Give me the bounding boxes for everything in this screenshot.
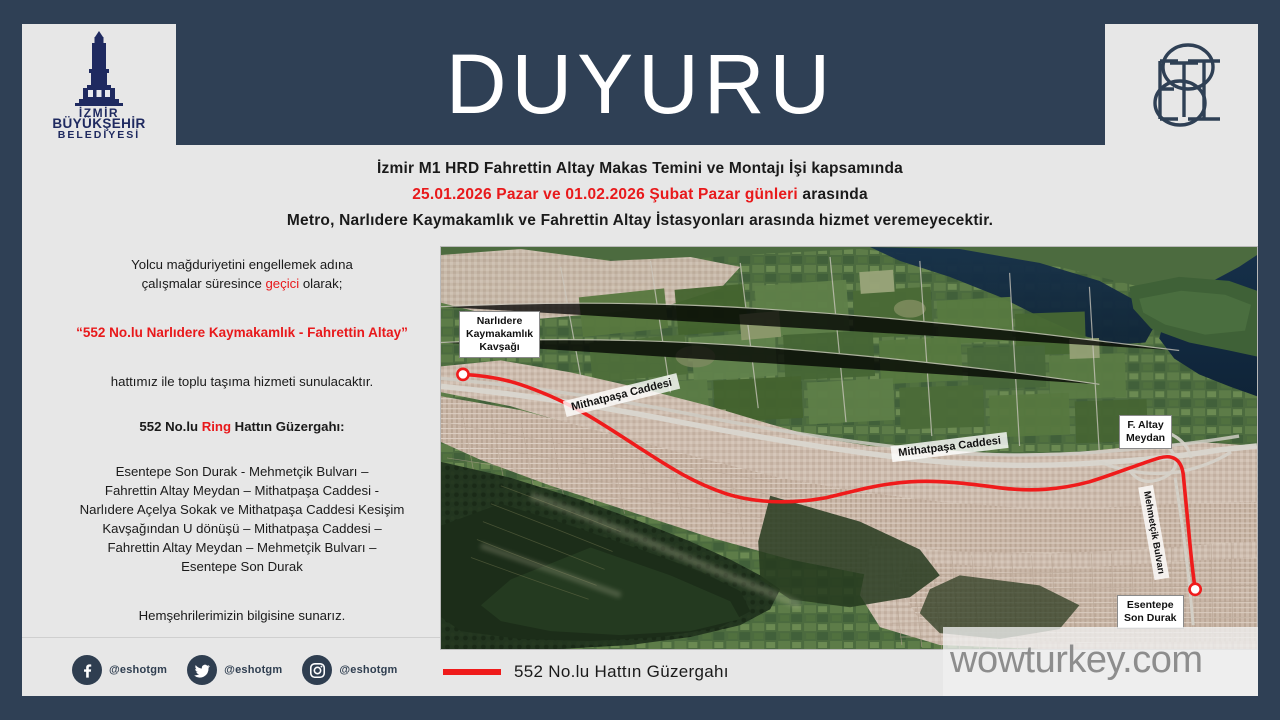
twitter-icon [187, 655, 217, 685]
social-link-twitter[interactable]: @eshotgm [187, 655, 282, 685]
announcement-poster: DUYURU İZMİR BÜYÜKŞEHİR BELEDİYESİ [0, 0, 1280, 720]
social-handle: @eshotgm [339, 664, 397, 676]
service-sentence: hattımız ile toplu taşıma hizmeti sunula… [44, 372, 440, 391]
label-line: F. Altay [1126, 419, 1165, 432]
divider [22, 637, 440, 638]
notice-paragraph: İzmir M1 HRD Fahrettin Altay Makas Temin… [180, 156, 1100, 234]
left-text-column: Yolcu mağduriyetini engellemek adına çal… [44, 255, 440, 625]
legend-color-swatch [443, 669, 501, 675]
route-step: Fahrettin Altay Meydan – Mithatpaşa Cadd… [44, 481, 440, 500]
route-heading-post: Hattın Güzergahı: [231, 419, 345, 434]
social-links-row: @eshotgm @eshotgm @eshotgm [72, 655, 398, 685]
intro-line-2: çalışmalar süresince geçici olarak; [44, 274, 440, 293]
notice-line-2: 25.01.2026 Pazar ve 01.02.2026 Şubat Paz… [180, 182, 1100, 208]
map-label-esentepe-son-durak: Esentepe Son Durak [1117, 595, 1184, 629]
label-line: Kaymakamlık [466, 328, 533, 341]
izmir-buyuksehir-belediyesi-logo: İZMİR BÜYÜKŞEHİR BELEDİYESİ [22, 24, 176, 145]
notice-line-2-tail: arasında [798, 186, 868, 203]
route-heading: 552 No.lu Ring Hattın Güzergahı: [44, 417, 440, 436]
notice-line-3: Metro, Narlıdere Kaymakamlık ve Fahretti… [180, 208, 1100, 234]
label-line: Narlıdere [466, 315, 533, 328]
intro-line-2-highlight: geçici [265, 276, 299, 291]
route-name-quote: “552 No.lu Narlıdere Kaymakamlık - Fahre… [44, 323, 440, 342]
route-heading-highlight: Ring [202, 419, 231, 434]
notice-dates: 25.01.2026 Pazar ve 01.02.2026 Şubat Paz… [412, 186, 798, 203]
legend-label: 552 No.lu Hattın Güzergahı [514, 662, 729, 682]
social-handle: @eshotgm [109, 664, 167, 676]
label-line: Meydan [1126, 432, 1165, 445]
instagram-icon [302, 655, 332, 685]
page-title: DUYURU [176, 24, 1105, 145]
route-endpoint-narlidere [457, 369, 468, 380]
route-step: Kavşağından U dönüşü – Mithatpaşa Caddes… [44, 519, 440, 538]
route-map[interactable]: Narlıdere Kaymakamlık Kavşağı F. Altay M… [440, 246, 1258, 650]
eshot-monogram-icon [1155, 45, 1220, 125]
route-steps: Esentepe Son Durak - Mehmetçik Bulvarı –… [44, 462, 440, 576]
route-step: Esentepe Son Durak - Mehmetçik Bulvarı – [44, 462, 440, 481]
logo-line-belediyesi: BELEDİYESİ [58, 128, 140, 139]
social-link-instagram[interactable]: @eshotgm [302, 655, 397, 685]
watermark: wowturkey.com [950, 639, 1203, 682]
route-step: Fahrettin Altay Meydan – Mehmetçik Bulva… [44, 538, 440, 557]
label-line: Son Durak [1124, 612, 1177, 625]
route-endpoint-esentepe [1190, 584, 1201, 595]
map-legend: 552 No.lu Hattın Güzergahı [443, 662, 729, 682]
route-step: Esentepe Son Durak [44, 557, 440, 576]
route-step: Narlıdere Açelya Sokak ve Mithatpaşa Cad… [44, 500, 440, 519]
map-label-f-altay-meydan: F. Altay Meydan [1119, 415, 1172, 449]
intro-line-1: Yolcu mağduriyetini engellemek adına [44, 255, 440, 274]
intro-line-2-post: olarak; [299, 276, 342, 291]
facebook-icon [72, 655, 102, 685]
notice-line-1: İzmir M1 HRD Fahrettin Altay Makas Temin… [180, 156, 1100, 182]
route-heading-pre: 552 No.lu [139, 419, 201, 434]
label-line: Kavşağı [466, 341, 533, 354]
closing-sentence: Hemşehrilerimizin bilgisine sunarız. [44, 606, 440, 625]
eshot-logo [1105, 24, 1258, 145]
intro-line-2-pre: çalışmalar süresince [142, 276, 266, 291]
social-handle: @eshotgm [224, 664, 282, 676]
label-line: Esentepe [1124, 599, 1177, 612]
map-label-narlidere-kaymakamlik-kavsagi: Narlıdere Kaymakamlık Kavşağı [459, 311, 540, 358]
social-link-facebook[interactable]: @eshotgm [72, 655, 167, 685]
intro-block: Yolcu mağduriyetini engellemek adına çal… [44, 255, 440, 293]
